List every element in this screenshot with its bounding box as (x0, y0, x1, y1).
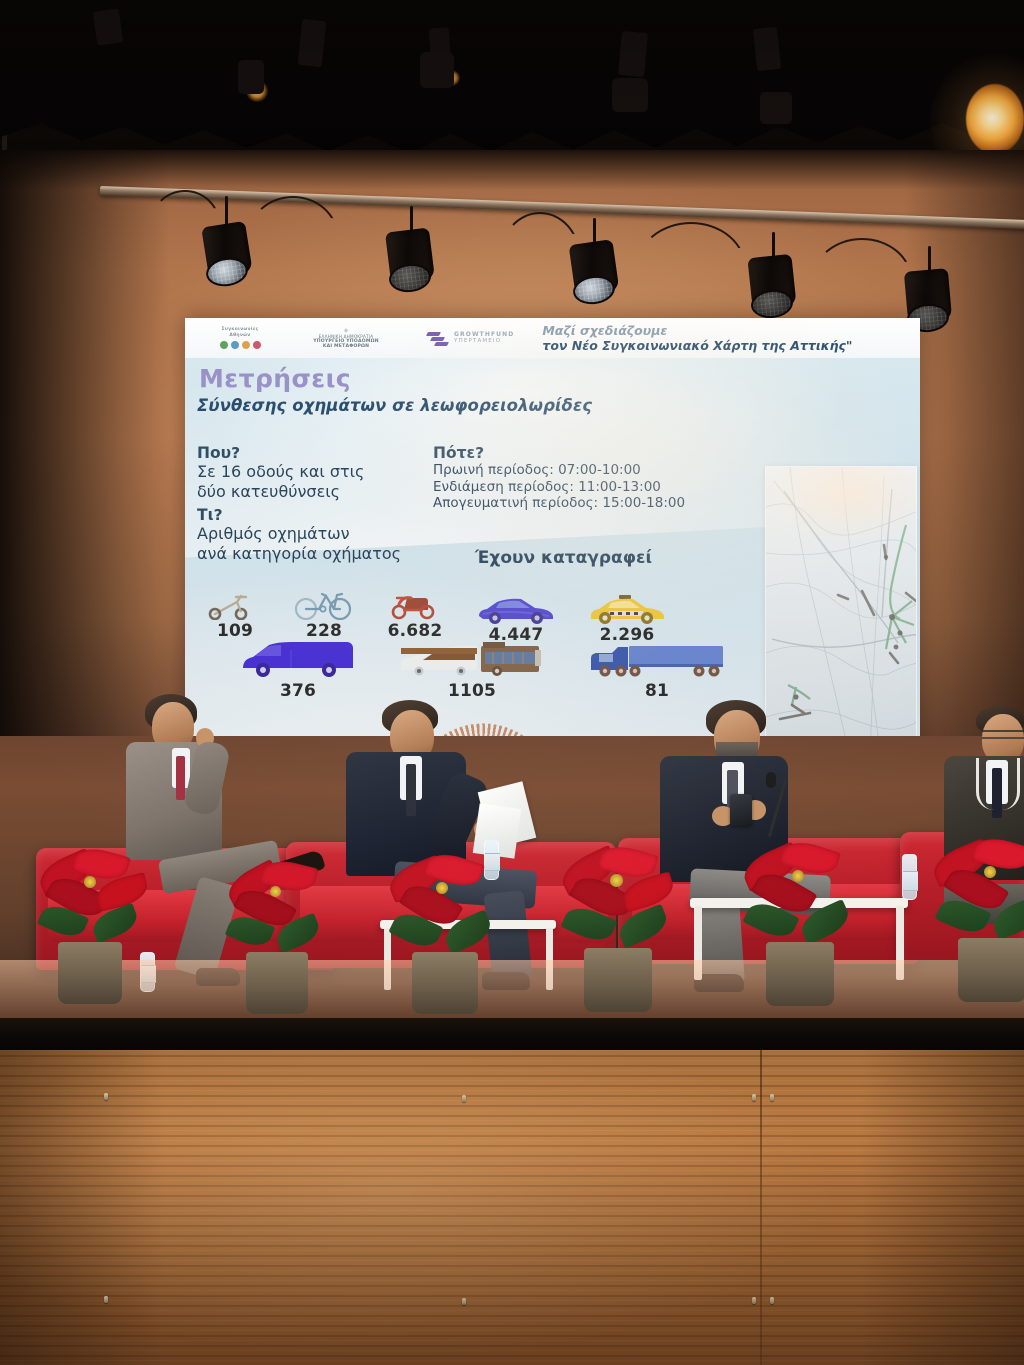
slide-subheading: Σύνθεσης οχημάτων σε λεωφορειολωρίδες (197, 396, 592, 415)
period-afternoon: Απογευματινή περίοδος: 15:00-18:00 (433, 495, 763, 512)
projection-screen: Συγκοινωνίες Αθηνών ◈ ΕΛΛΗΝΙΚΗ ΔΗΜΟΚΡΑΤΙ… (185, 318, 920, 790)
phone-icon (730, 794, 752, 826)
water-bottle-2 (484, 840, 499, 880)
plant-pot (958, 938, 1024, 1002)
bicycle-icon (293, 586, 355, 620)
slide-campaign-title: Μαζί σχεδιάζουμε τον Νέο Συγκοινωνιακό Χ… (542, 323, 852, 353)
panel-screw (752, 1094, 756, 1101)
question-when-label: Πότε? (433, 444, 763, 462)
logo-athens-transport: Συγκοινωνίες Αθηνών (207, 327, 273, 349)
warm-spotlight-icon (966, 84, 1024, 154)
campaign-title-line1: Μαζί σχεδιάζουμε (542, 323, 852, 338)
wood-lighting-vignette (0, 1050, 1024, 1365)
bottle-label (903, 871, 918, 891)
scooter-icon (207, 586, 263, 620)
growthfund-line2: ΥΠΕΡΤΑΜΕΙΟ (454, 338, 514, 345)
dot-orange (242, 341, 250, 349)
growthfund-mark-icon (427, 329, 449, 347)
microphone-icon (766, 772, 776, 788)
emblem-icon: ◈ (291, 327, 401, 334)
vehicle-count-van: 376 (280, 681, 316, 701)
bloom-core (270, 886, 281, 897)
recorded-label: Έχουν καταγραφεί (475, 548, 652, 568)
logo-athens-line2: Αθηνών (207, 333, 273, 338)
van-icon (239, 646, 357, 680)
bloom-core (984, 866, 996, 878)
dot-blue (231, 341, 239, 349)
question-where-label: Που? (197, 444, 442, 462)
panel-screw (104, 1296, 108, 1303)
vehicle-count-motorcycle: 6.682 (388, 621, 443, 641)
vehicle-row-2: 376 (239, 646, 727, 701)
vehicle-row-1: 109 228 (207, 586, 667, 641)
slide-header: Συγκοινωνίες Αθηνών ◈ ΕΛΛΗΝΙΚΗ ΔΗΜΟΚΡΑΤΙ… (185, 318, 920, 358)
wall-shadow-left (0, 150, 170, 750)
vehicle-item-van: 376 (239, 646, 357, 701)
bloom-core (84, 876, 96, 888)
logo-growthfund: GROWTHFUND ΥΠΕΡΤΑΜΕΙΟ (427, 329, 514, 347)
plant-pot (246, 952, 308, 1014)
panelist-1-tie (176, 756, 185, 800)
bloom-core (792, 870, 804, 882)
panel-screw (104, 1093, 108, 1100)
vehicle-item-truck: 81 (587, 646, 727, 701)
lanyard-icon (976, 758, 1020, 810)
car-icon (475, 590, 557, 624)
campaign-title-line2: τον Νέο Συγκοινωνιακό Χάρτη της Αττικής" (542, 338, 852, 353)
panelist-2-tie (406, 764, 416, 816)
bottle-label-2 (485, 853, 500, 871)
panel-screw (770, 1094, 774, 1101)
period-morning: Πρωινή περίοδος: 07:00-10:00 (433, 462, 763, 479)
vehicle-count-truck: 81 (645, 681, 669, 701)
slide-body: Μετρήσεις Σύνθεσης οχημάτων σε λεωφορειο… (185, 358, 920, 790)
logo-athens-dots (207, 341, 273, 349)
slide-heading: Μετρήσεις (199, 364, 351, 393)
panel-screw (752, 1297, 756, 1304)
vehicle-item-bus: 1105 (399, 646, 545, 701)
stage-floor-highlight (0, 960, 1024, 1018)
slide-column-left: Που? Σε 16 οδούς και στις δύο κατευθύνσε… (197, 444, 442, 564)
wall-shadow-right (904, 150, 1024, 750)
question-what-label: Τι? (197, 506, 442, 524)
panel-screw (462, 1095, 466, 1102)
vehicle-item-taxi: 2.296 (587, 590, 667, 645)
question-where-line1: Σε 16 οδούς και στις (197, 462, 442, 482)
growthfund-line1: GROWTHFUND (454, 331, 514, 338)
question-what-line2: ανά κατηγορία οχήματος (197, 544, 442, 564)
vehicle-count-scooter: 109 (217, 621, 253, 641)
stage-scene: Συγκοινωνίες Αθηνών ◈ ΕΛΛΗΝΙΚΗ ΔΗΜΟΚΡΑΤΙ… (0, 0, 1024, 1365)
vehicle-count-bicycle: 228 (306, 621, 342, 641)
vehicle-count-bus: 1105 (448, 681, 496, 701)
panel-screw (462, 1298, 466, 1305)
taxi-icon (587, 590, 667, 624)
period-midday: Ενδιάμεση περίοδος: 11:00-13:00 (433, 479, 763, 496)
plant-pot (766, 942, 834, 1006)
bloom-core (610, 874, 623, 887)
stage-lip (0, 1018, 1024, 1050)
motorcycle-icon (385, 586, 445, 620)
vehicle-item-bicycle: 228 (293, 586, 355, 641)
slide-column-right: Πότε? Πρωινή περίοδος: 07:00-10:00 Ενδιά… (433, 444, 763, 512)
water-bottle (902, 854, 917, 900)
vehicle-item-car: 4.447 (475, 590, 557, 645)
ministry-line3: ΚΑΙ ΜΕΤΑΦΟΡΩΝ (291, 344, 401, 349)
truck-icon (587, 646, 727, 680)
question-what-line1: Αριθμός οχημάτων (197, 524, 442, 544)
vehicle-item-scooter: 109 (207, 586, 263, 641)
dot-green (220, 341, 228, 349)
bloom-core (436, 882, 448, 894)
plant-pot (58, 942, 122, 1004)
glasses-icon (982, 730, 1024, 739)
vehicle-item-motorcycle: 6.682 (385, 586, 445, 641)
question-where-line2: δύο κατευθύνσεις (197, 482, 442, 502)
dot-red (253, 341, 261, 349)
logo-ministry: ◈ ΕΛΛΗΝΙΚΗ ΔΗΜΟΚΡΑΤΙΑ ΥΠΟΥΡΓΕΙΟ ΥΠΟΔΟΜΩΝ… (291, 327, 401, 349)
plant-pot (412, 952, 478, 1014)
plant-pot (584, 948, 652, 1012)
panel-screw (770, 1297, 774, 1304)
bus-icon (399, 646, 545, 680)
